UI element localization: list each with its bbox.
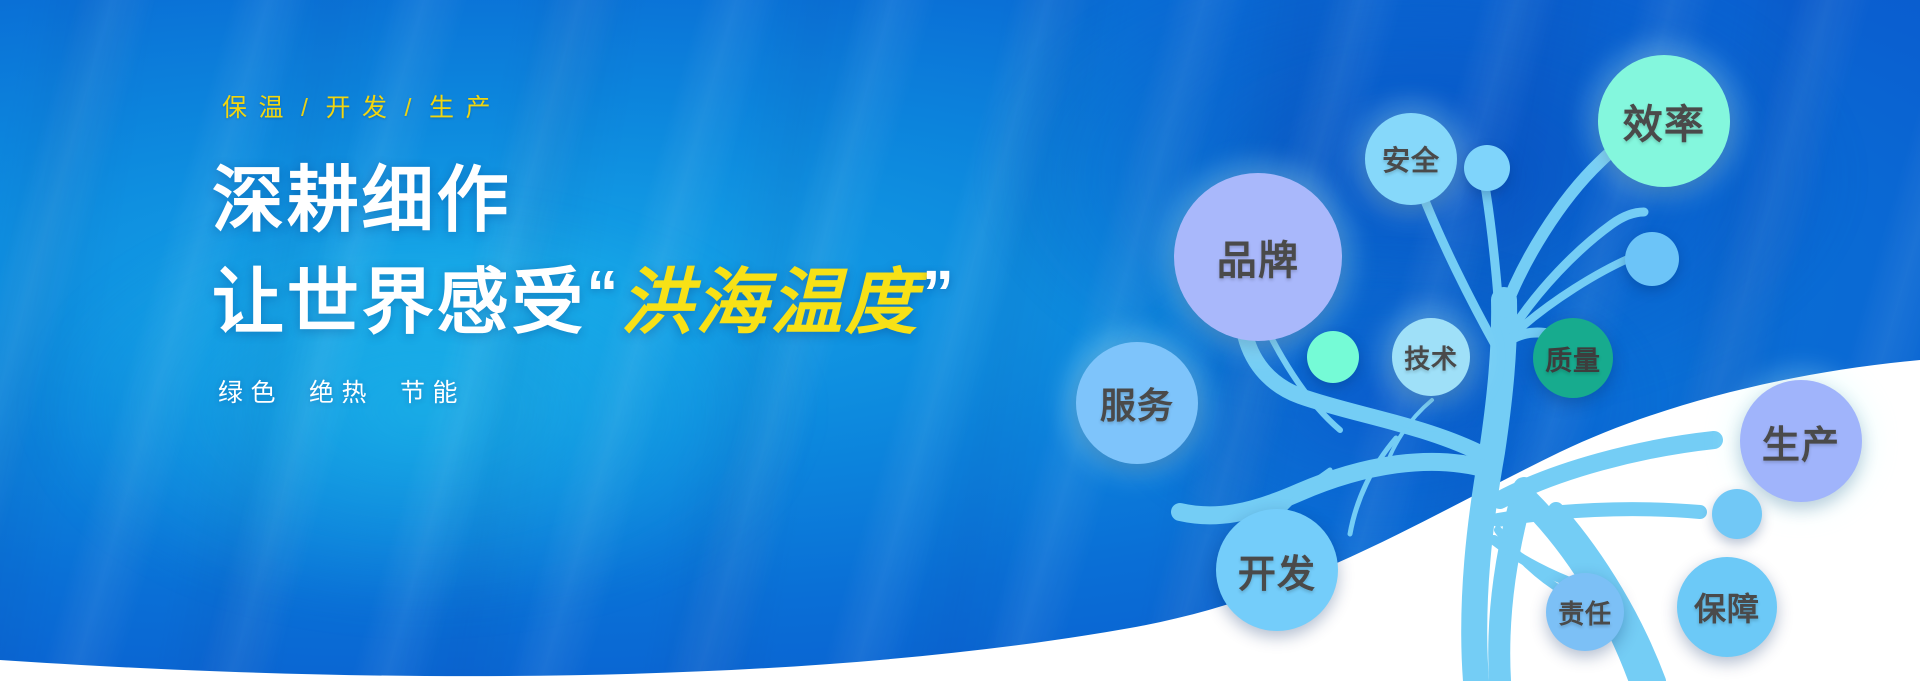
- keyword-bubble-label: 技术: [1404, 339, 1458, 376]
- tagline-keywords: 绿色绝热节能: [218, 381, 1112, 406]
- hero-copy-block: 保温/开发/生产 深耕细作 让世界感受 “ 洪海温度 ” 绿色绝热节能: [212, 96, 1112, 406]
- keyword-bubble-生产[interactable]: 生产: [1740, 380, 1862, 502]
- eyebrow-item-2: 生产: [429, 94, 502, 122]
- keyword-bubble-label: 安全: [1382, 139, 1440, 179]
- quote-close-mark: ”: [922, 261, 954, 325]
- keyword-bubble-技术[interactable]: 技术: [1392, 318, 1470, 396]
- headline-line-1: 深耕细作: [212, 165, 1112, 237]
- keyword-bubble-责任[interactable]: 责任: [1546, 573, 1624, 651]
- keyword-bubble-质量[interactable]: 质量: [1533, 318, 1613, 398]
- decorative-bubble-dot: [1712, 489, 1762, 539]
- keyword-bubble-效率[interactable]: 效率: [1598, 55, 1730, 187]
- keyword-bubble-安全[interactable]: 安全: [1365, 113, 1457, 205]
- keyword-bubble-label: 生产: [1762, 414, 1840, 469]
- keyword-bubble-开发[interactable]: 开发: [1216, 509, 1338, 631]
- headline-accent-text: 洪海温度: [618, 267, 922, 339]
- decorative-bubble-dot: [1464, 145, 1510, 191]
- keyword-bubble-label: 质量: [1545, 339, 1601, 378]
- tagline-item-2: 节能: [400, 379, 465, 407]
- decorative-bubble-dot: [1625, 232, 1679, 286]
- keyword-bubble-品牌[interactable]: 品牌: [1174, 173, 1342, 341]
- keyword-bubble-保障[interactable]: 保障: [1677, 557, 1777, 657]
- headline-plain-text: 让世界感受: [212, 267, 586, 339]
- eyebrow-item-0: 保温: [222, 94, 295, 122]
- eyebrow-separator-1: /: [398, 94, 428, 122]
- keyword-bubble-label: 效率: [1623, 92, 1705, 150]
- eyebrow-item-1: 开发: [325, 94, 398, 122]
- keyword-bubble-label: 责任: [1558, 594, 1612, 631]
- decorative-bubble-dot: [1307, 331, 1359, 383]
- eyebrow-separator-0: /: [295, 94, 325, 122]
- tagline-item-1: 绝热: [309, 379, 374, 407]
- keyword-bubble-label: 保障: [1694, 584, 1760, 630]
- keyword-bubble-label: 开发: [1238, 543, 1316, 598]
- tagline-item-0: 绿色: [218, 379, 283, 407]
- quote-open-mark: “: [586, 261, 618, 325]
- headline-line-2: 让世界感受 “ 洪海温度 ”: [212, 267, 1112, 339]
- eyebrow-keywords: 保温/开发/生产: [222, 96, 1112, 121]
- keyword-bubble-label: 品牌: [1217, 228, 1299, 286]
- hero-banner: 品牌安全效率技术质量服务生产开发责任保障 保温/开发/生产 深耕细作 让世界感受…: [0, 0, 1920, 681]
